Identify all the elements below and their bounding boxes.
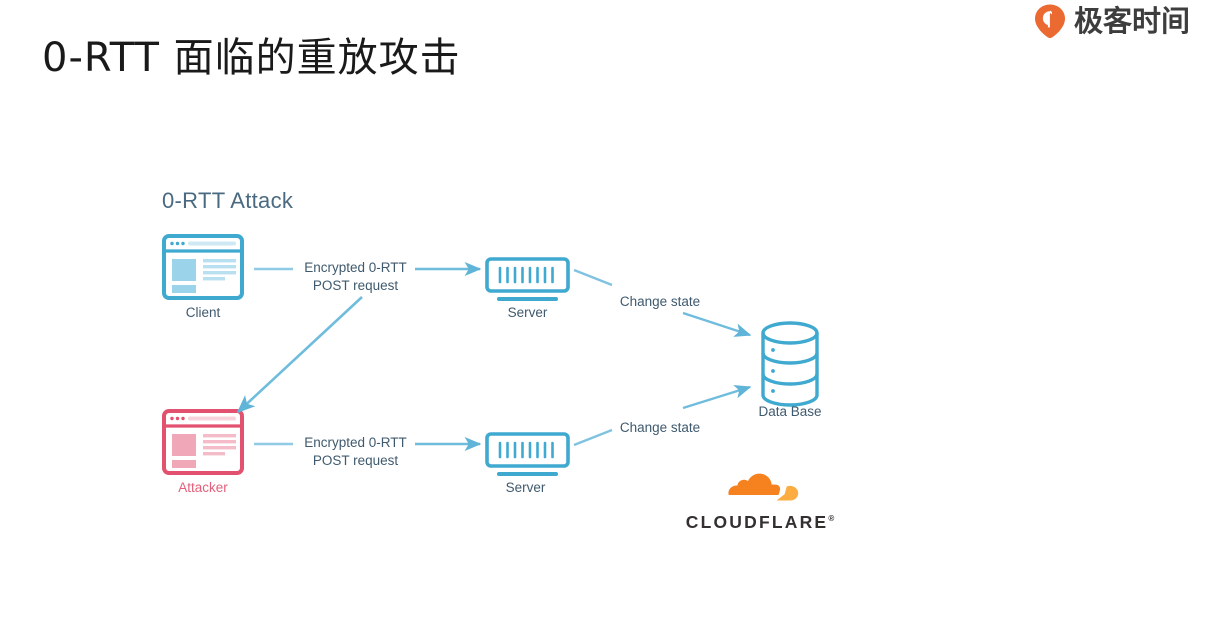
cloudflare-logo: CLOUDFLARE® [685, 470, 835, 533]
edge-label-client-to-server: Encrypted 0-RTT POST request [298, 259, 413, 295]
cloudflare-cloud-icon [716, 470, 804, 510]
cloudflare-wordmark-text: CLOUDFLARE [686, 512, 829, 532]
browser-window-icon-client [164, 236, 242, 298]
cloudflare-wordmark: CLOUDFLARE® [685, 512, 835, 533]
edge-label-attacker-to-server: Encrypted 0-RTT POST request [298, 434, 413, 470]
geektime-logo-icon [1033, 3, 1067, 39]
browser-window-icon-attacker [164, 411, 242, 473]
brand-name: 极客时间 [1074, 7, 1190, 36]
database-cylinder-icon [763, 323, 817, 405]
brand-logo: 极客时间 [1033, 3, 1190, 39]
node-label-attacker: Attacker [160, 480, 246, 495]
edge-label-line1: Encrypted 0-RTT [298, 434, 413, 452]
edge-label-line1: Encrypted 0-RTT [298, 259, 413, 277]
edge-label-line2: POST request [298, 277, 413, 295]
page-title: 0-RTT 面临的重放攻击 [42, 25, 461, 83]
edge-label-server-top-to-database: Change state [614, 293, 706, 311]
edge-label-line2: POST request [298, 452, 413, 470]
server-icon-bottom [487, 434, 568, 476]
cloudflare-trademark: ® [828, 514, 834, 523]
node-label-database: Data Base [738, 404, 842, 419]
node-label-server-top: Server [487, 305, 568, 320]
diagram-canvas: 0-RTT Attack [150, 180, 870, 525]
node-label-client: Client [164, 305, 242, 320]
node-label-server-bottom: Server [485, 480, 566, 495]
edge-client-to-attacker [238, 297, 362, 412]
server-icon-top [487, 259, 568, 301]
edge-label-server-bottom-to-database: Change state [614, 419, 706, 437]
